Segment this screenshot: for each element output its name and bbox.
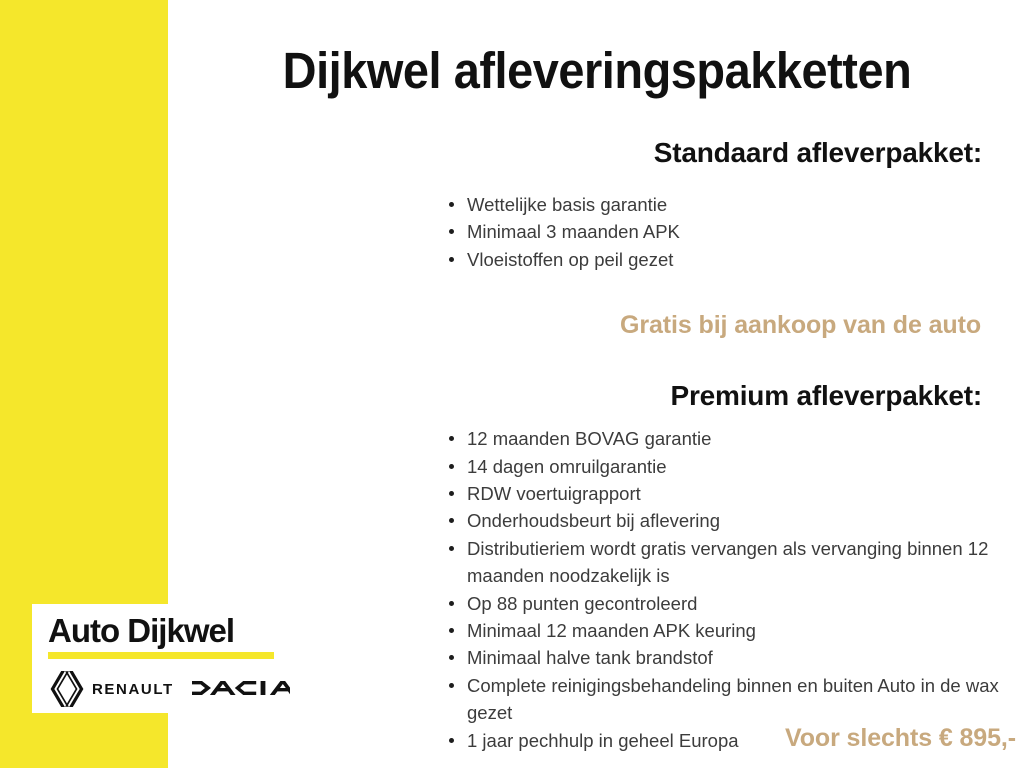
- bullet-icon: [449, 601, 454, 606]
- premium-package-heading: Premium afleverpakket:: [430, 379, 1024, 413]
- list-item: Distributieriem wordt gratis vervangen a…: [430, 535, 1024, 590]
- list-item: Minimaal 3 maanden APK: [430, 218, 1024, 245]
- list-item-label: Complete reinigingsbehandeling binnen en…: [467, 675, 999, 723]
- list-item-label: RDW voertuigrapport: [467, 483, 641, 504]
- list-item-label: Wettelijke basis garantie: [467, 194, 667, 215]
- brand-logos-row: RENAULT: [44, 668, 290, 710]
- page-title: Dijkwel afleveringspakketten: [204, 42, 990, 100]
- bullet-icon: [449, 628, 454, 633]
- premium-package-list: 12 maanden BOVAG garantie 14 dagen omrui…: [430, 425, 1024, 754]
- content-column: Standaard afleverpakket: Wettelijke basi…: [430, 130, 1024, 754]
- poster-canvas: Dijkwel afleveringspakketten Standaard a…: [0, 0, 1024, 768]
- list-item: RDW voertuigrapport: [430, 480, 1024, 507]
- bullet-icon: [449, 257, 454, 262]
- list-item: Wettelijke basis garantie: [430, 191, 1024, 218]
- dacia-wordmark-icon: [192, 677, 290, 704]
- bullet-icon: [449, 655, 454, 660]
- standard-package-list: Wettelijke basis garantie Minimaal 3 maa…: [430, 191, 1024, 273]
- bullet-icon: [449, 436, 454, 441]
- bullet-icon: [449, 202, 454, 207]
- list-item-label: Vloeistoffen op peil gezet: [467, 249, 673, 270]
- list-item: Minimaal 12 maanden APK keuring: [430, 617, 1024, 644]
- bullet-icon: [449, 229, 454, 234]
- list-item: Minimaal halve tank brandstof: [430, 644, 1024, 671]
- list-item: 12 maanden BOVAG garantie: [430, 425, 1024, 452]
- list-item-label: Distributieriem wordt gratis vervangen a…: [467, 538, 988, 586]
- list-item: Onderhoudsbeurt bij aflevering: [430, 507, 1024, 534]
- dealer-wordmark: Auto Dijkwel: [48, 612, 234, 650]
- bullet-icon: [449, 464, 454, 469]
- list-item-label: Minimaal 3 maanden APK: [467, 221, 680, 242]
- list-item-label: 12 maanden BOVAG garantie: [467, 428, 711, 449]
- list-item: Op 88 punten gecontroleerd: [430, 590, 1024, 617]
- bullet-icon: [449, 546, 454, 551]
- logo-yellow-rule: [48, 652, 274, 659]
- list-item-label: Minimaal 12 maanden APK keuring: [467, 620, 756, 641]
- renault-label: RENAULT: [92, 681, 174, 698]
- bullet-icon: [449, 518, 454, 523]
- list-item-label: 14 dagen omruilgarantie: [467, 456, 667, 477]
- standard-package-accent: Gratis bij aankoop van de auto: [430, 309, 1024, 341]
- dealer-logo-block: Auto Dijkwel RENAULT: [32, 604, 290, 713]
- standard-package-heading: Standaard afleverpakket:: [430, 136, 1024, 170]
- list-item: Complete reinigingsbehandeling binnen en…: [430, 672, 1024, 727]
- list-item: 14 dagen omruilgarantie: [430, 453, 1024, 480]
- bullet-icon: [449, 491, 454, 496]
- list-item-label: Op 88 punten gecontroleerd: [467, 593, 697, 614]
- price-accent: Voor slechts € 895,-: [430, 722, 1024, 754]
- list-item-label: Minimaal halve tank brandstof: [467, 647, 713, 668]
- bullet-icon: [449, 683, 454, 688]
- list-item: Vloeistoffen op peil gezet: [430, 246, 1024, 273]
- renault-diamond-icon: [48, 669, 86, 713]
- list-item-label: Onderhoudsbeurt bij aflevering: [467, 510, 720, 531]
